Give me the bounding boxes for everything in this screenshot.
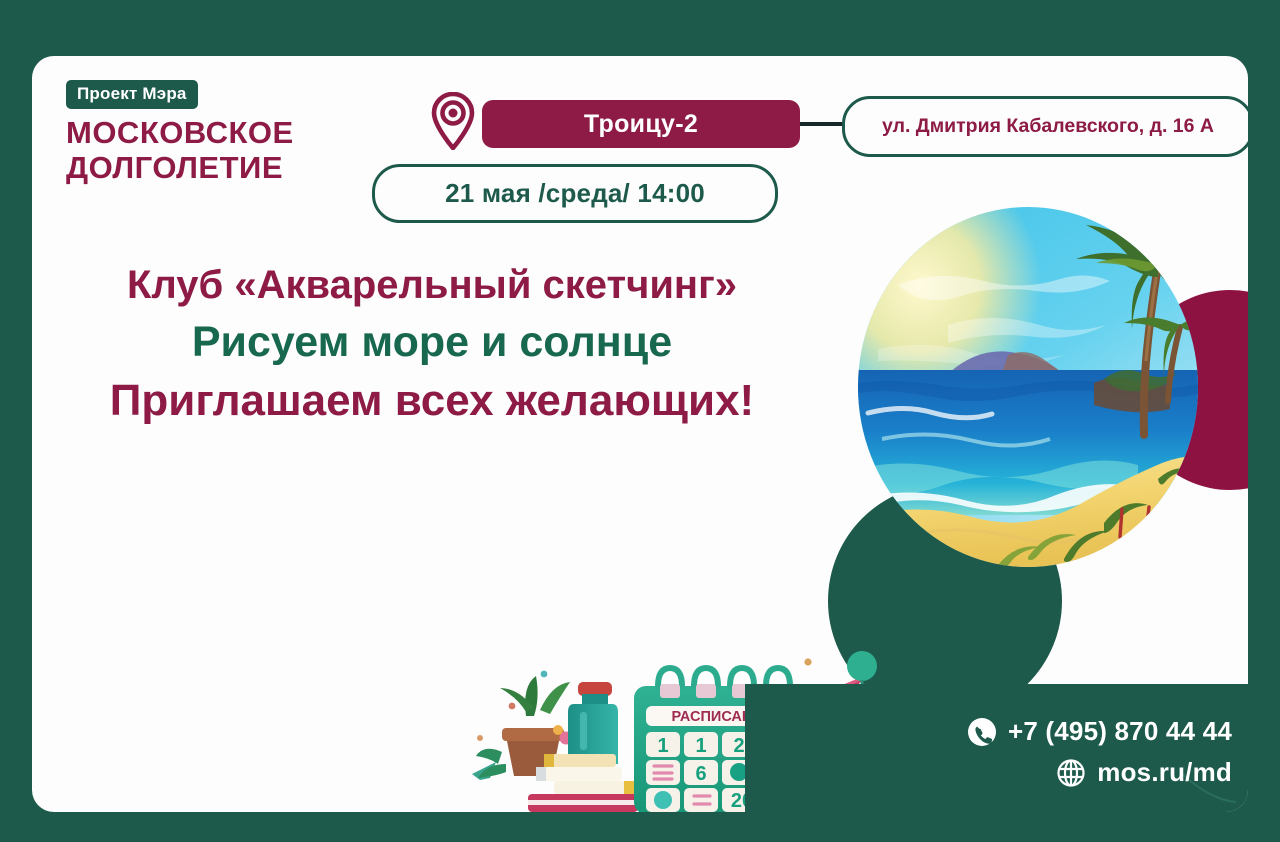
address-pill: ул. Дмитрия Кабалевского, д. 16 А (842, 96, 1248, 157)
place-label: Троицу-2 (584, 110, 698, 139)
logo-line-2: ДОЛГОЛЕТИЕ (66, 152, 294, 183)
beach-photo (858, 207, 1198, 567)
svg-text:2: 2 (733, 735, 744, 757)
datetime-pill: 21 мая /среда/ 14:00 (372, 164, 778, 223)
svg-text:1: 1 (657, 735, 668, 757)
location-pin-icon (430, 92, 476, 150)
logo-line-1: МОСКОВСКОЕ (66, 117, 294, 148)
title-line-3: Приглашаем всех желающих! (32, 374, 832, 428)
website-row[interactable]: mos.ru/md (932, 757, 1232, 788)
badge-connector-line (800, 122, 844, 126)
website-url: mos.ru/md (1097, 757, 1232, 788)
address-label: ул. Дмитрия Кабалевского, д. 16 А (882, 115, 1214, 138)
logo-tag: Проект Мэра (66, 80, 198, 109)
phone-row[interactable]: +7 (495) 870 44 44 (932, 716, 1232, 747)
white-card: Проект Мэра МОСКОВСКОЕ ДОЛГОЛЕТИЕ Троицу… (32, 56, 1248, 812)
phone-icon (967, 717, 997, 747)
title-block: Клуб «Акварельный скетчинг» Рисуем море … (32, 261, 832, 428)
title-line-1: Клуб «Акварельный скетчинг» (32, 261, 832, 310)
title-line-2: Рисуем море и солнце (32, 316, 832, 368)
logo: Проект Мэра МОСКОВСКОЕ ДОЛГОЛЕТИЕ (66, 80, 294, 183)
contact-info: +7 (495) 870 44 44 mos.ru/md (932, 716, 1232, 798)
phone-number: +7 (495) 870 44 44 (1008, 716, 1232, 747)
svg-text:6: 6 (695, 763, 706, 785)
globe-icon (1056, 758, 1086, 788)
place-badge: Троицу-2 (482, 100, 800, 148)
poster: Проект Мэра МОСКОВСКОЕ ДОЛГОЛЕТИЕ Троицу… (0, 0, 1280, 842)
datetime-label: 21 мая /среда/ 14:00 (445, 178, 705, 209)
svg-text:1: 1 (695, 735, 706, 757)
